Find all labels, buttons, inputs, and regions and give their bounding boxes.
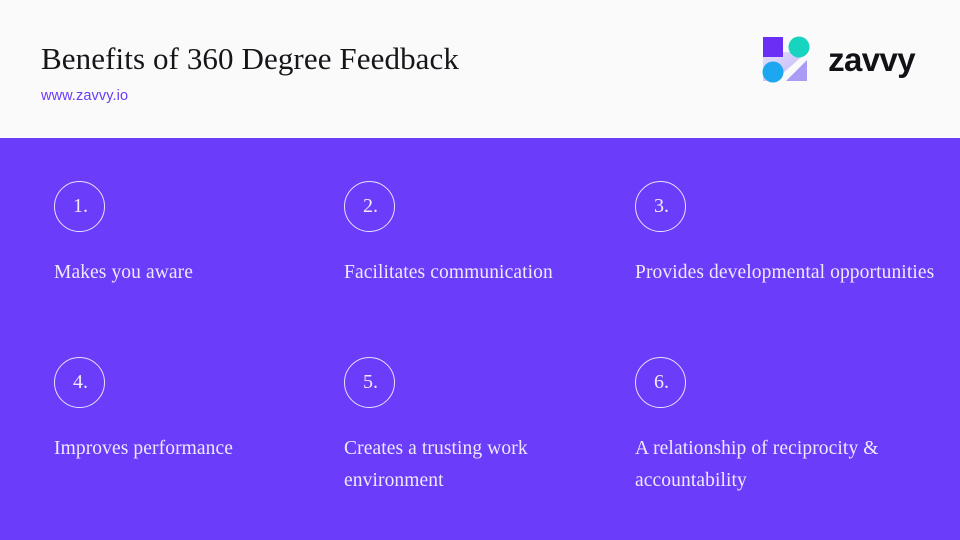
slide-header: Benefits of 360 Degree Feedback www.zavv… — [0, 0, 960, 138]
benefit-item-2: 2. Facilitates communication — [344, 181, 635, 357]
benefit-number-badge-6: 6. — [635, 357, 686, 408]
benefit-label-3: Provides developmental opportunities — [635, 232, 935, 289]
benefit-label-4: Improves performance — [54, 408, 339, 465]
benefit-item-6: 6. A relationship of reciprocity & accou… — [635, 357, 960, 540]
benefit-number-badge-4: 4. — [54, 357, 105, 408]
benefit-number-badge-3: 3. — [635, 181, 686, 232]
benefit-number-3: 3. — [654, 196, 669, 216]
benefit-number-badge-2: 2. — [344, 181, 395, 232]
benefit-number-badge-1: 1. — [54, 181, 105, 232]
benefit-number-badge-5: 5. — [344, 357, 395, 408]
benefit-number-4: 4. — [73, 372, 88, 392]
benefit-number-5: 5. — [363, 372, 378, 392]
benefits-grid: 1. Makes you aware 2. Facilitates commun… — [0, 138, 960, 540]
benefit-item-5: 5. Creates a trusting work environment — [344, 357, 635, 540]
benefit-item-4: 4. Improves performance — [54, 357, 344, 540]
brand-logo[interactable]: zavvy — [756, 30, 915, 88]
benefit-label-1: Makes you aware — [54, 232, 339, 289]
page-title: Benefits of 360 Degree Feedback — [41, 41, 459, 77]
benefit-number-1: 1. — [73, 196, 88, 216]
benefit-item-3: 3. Provides developmental opportunities — [635, 181, 960, 357]
benefit-label-2: Facilitates communication — [344, 232, 629, 289]
benefit-number-6: 6. — [654, 372, 669, 392]
zavvy-z-logo-icon — [756, 30, 814, 88]
benefit-item-1: 1. Makes you aware — [54, 181, 344, 357]
site-url-link[interactable]: www.zavvy.io — [41, 88, 128, 104]
benefit-number-2: 2. — [363, 196, 378, 216]
benefit-label-6: A relationship of reciprocity & accounta… — [635, 408, 935, 496]
brand-wordmark: zavvy — [828, 43, 915, 76]
benefit-label-5: Creates a trusting work environment — [344, 408, 629, 496]
slide-canvas: Benefits of 360 Degree Feedback www.zavv… — [0, 0, 960, 540]
